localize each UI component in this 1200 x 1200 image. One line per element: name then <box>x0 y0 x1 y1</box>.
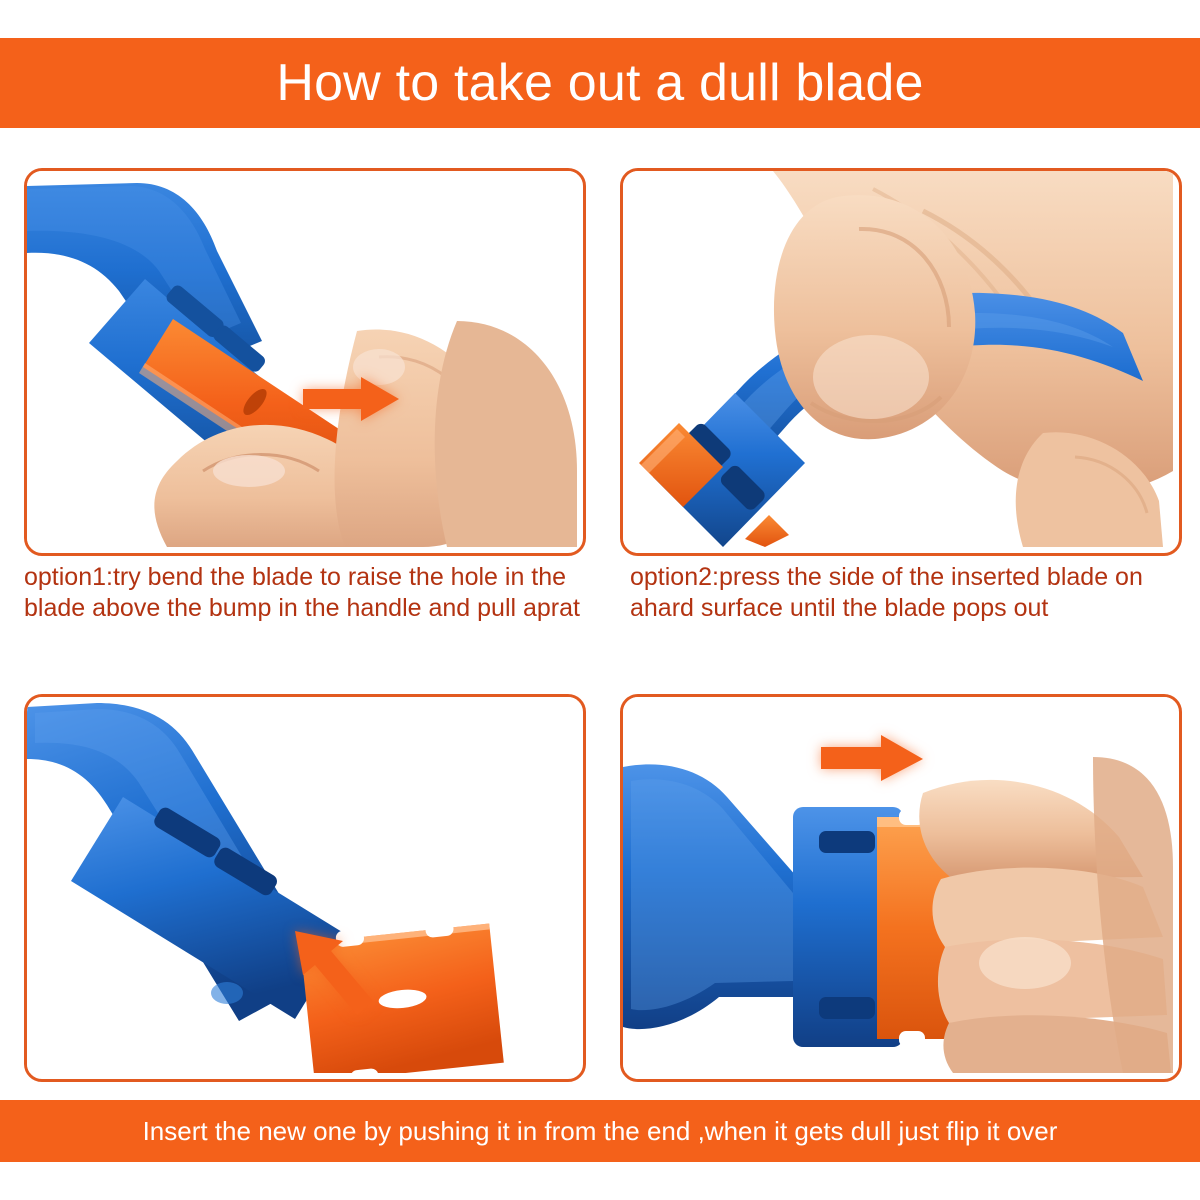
illustration-bend-blade <box>27 171 583 553</box>
footer-banner: Insert the new one by pushing it in from… <box>0 1100 1200 1162</box>
step-panel-1 <box>24 168 586 556</box>
step-panel-4 <box>620 694 1182 1082</box>
header-banner: How to take out a dull blade <box>0 38 1200 128</box>
page-title: How to take out a dull blade <box>276 57 923 109</box>
illustration-handle-and-blade <box>27 697 583 1079</box>
step-panel-2 <box>620 168 1182 556</box>
footer-instruction: Insert the new one by pushing it in from… <box>143 1118 1058 1144</box>
step-panel-3 <box>24 694 586 1082</box>
illustration-insert-blade <box>623 697 1179 1079</box>
caption-option2: option2:press the side of the inserted b… <box>630 562 1190 624</box>
caption-option1: option1:try bend the blade to raise the … <box>24 562 584 624</box>
illustration-press-side <box>623 171 1179 553</box>
